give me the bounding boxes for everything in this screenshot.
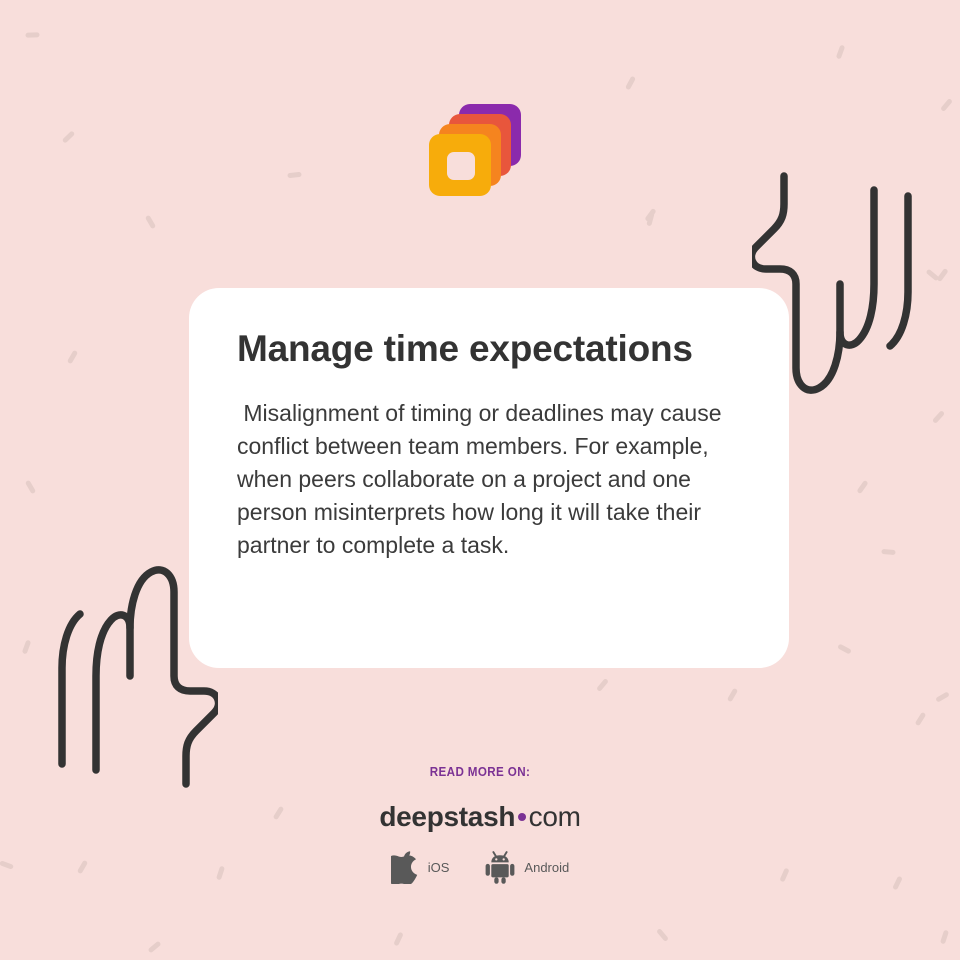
confetti-dash	[727, 688, 738, 703]
confetti-dash	[646, 212, 654, 227]
card-body-text: Misalignment of timing or deadlines may …	[237, 397, 741, 562]
deepstash-logo[interactable]	[429, 104, 521, 196]
confetti-dash	[926, 269, 940, 282]
android-store-badge[interactable]: Android	[485, 851, 569, 884]
brand-tld: com	[529, 801, 581, 833]
confetti-dash	[22, 640, 31, 655]
brand-wordmark[interactable]: deepstash • com	[379, 801, 580, 833]
confetti-dash	[856, 480, 868, 494]
confetti-dash	[836, 45, 845, 60]
confetti-dash	[287, 172, 301, 178]
confetti-dash	[67, 350, 78, 365]
pointing-hand-up-icon	[18, 558, 218, 788]
footer: READ MORE ON: deepstash • com iOS	[0, 765, 960, 884]
confetti-dash	[935, 691, 950, 702]
logo-cutout	[447, 152, 475, 180]
idea-card: Manage time expectations Misalignment of…	[189, 288, 789, 668]
brand-dot-separator: •	[517, 801, 527, 833]
poster-canvas: Manage time expectations Misalignment of…	[0, 0, 960, 960]
card-title: Manage time expectations	[237, 328, 741, 371]
store-badges: iOS	[391, 851, 569, 884]
confetti-dash	[596, 678, 609, 692]
ios-store-badge[interactable]: iOS	[391, 851, 450, 884]
apple-icon	[391, 851, 419, 884]
confetti-dash	[656, 928, 669, 942]
confetti-dash	[62, 130, 76, 143]
confetti-dash	[644, 208, 656, 222]
confetti-dash	[625, 76, 636, 91]
confetti-dash	[25, 480, 36, 495]
confetti-dash	[145, 215, 156, 230]
confetti-dash	[940, 98, 953, 112]
android-label: Android	[524, 860, 569, 875]
brand-name: deepstash	[379, 801, 515, 833]
confetti-dash	[936, 268, 948, 282]
confetti-dash	[915, 712, 927, 727]
confetti-dash	[837, 644, 852, 655]
confetti-dash	[148, 941, 162, 954]
confetti-dash	[940, 930, 949, 945]
read-more-label: READ MORE ON:	[430, 765, 530, 779]
confetti-dash	[25, 32, 39, 37]
ios-label: iOS	[428, 860, 450, 875]
android-icon	[485, 851, 515, 884]
confetti-dash	[881, 549, 895, 555]
confetti-dash	[932, 410, 945, 424]
confetti-dash	[393, 932, 403, 947]
